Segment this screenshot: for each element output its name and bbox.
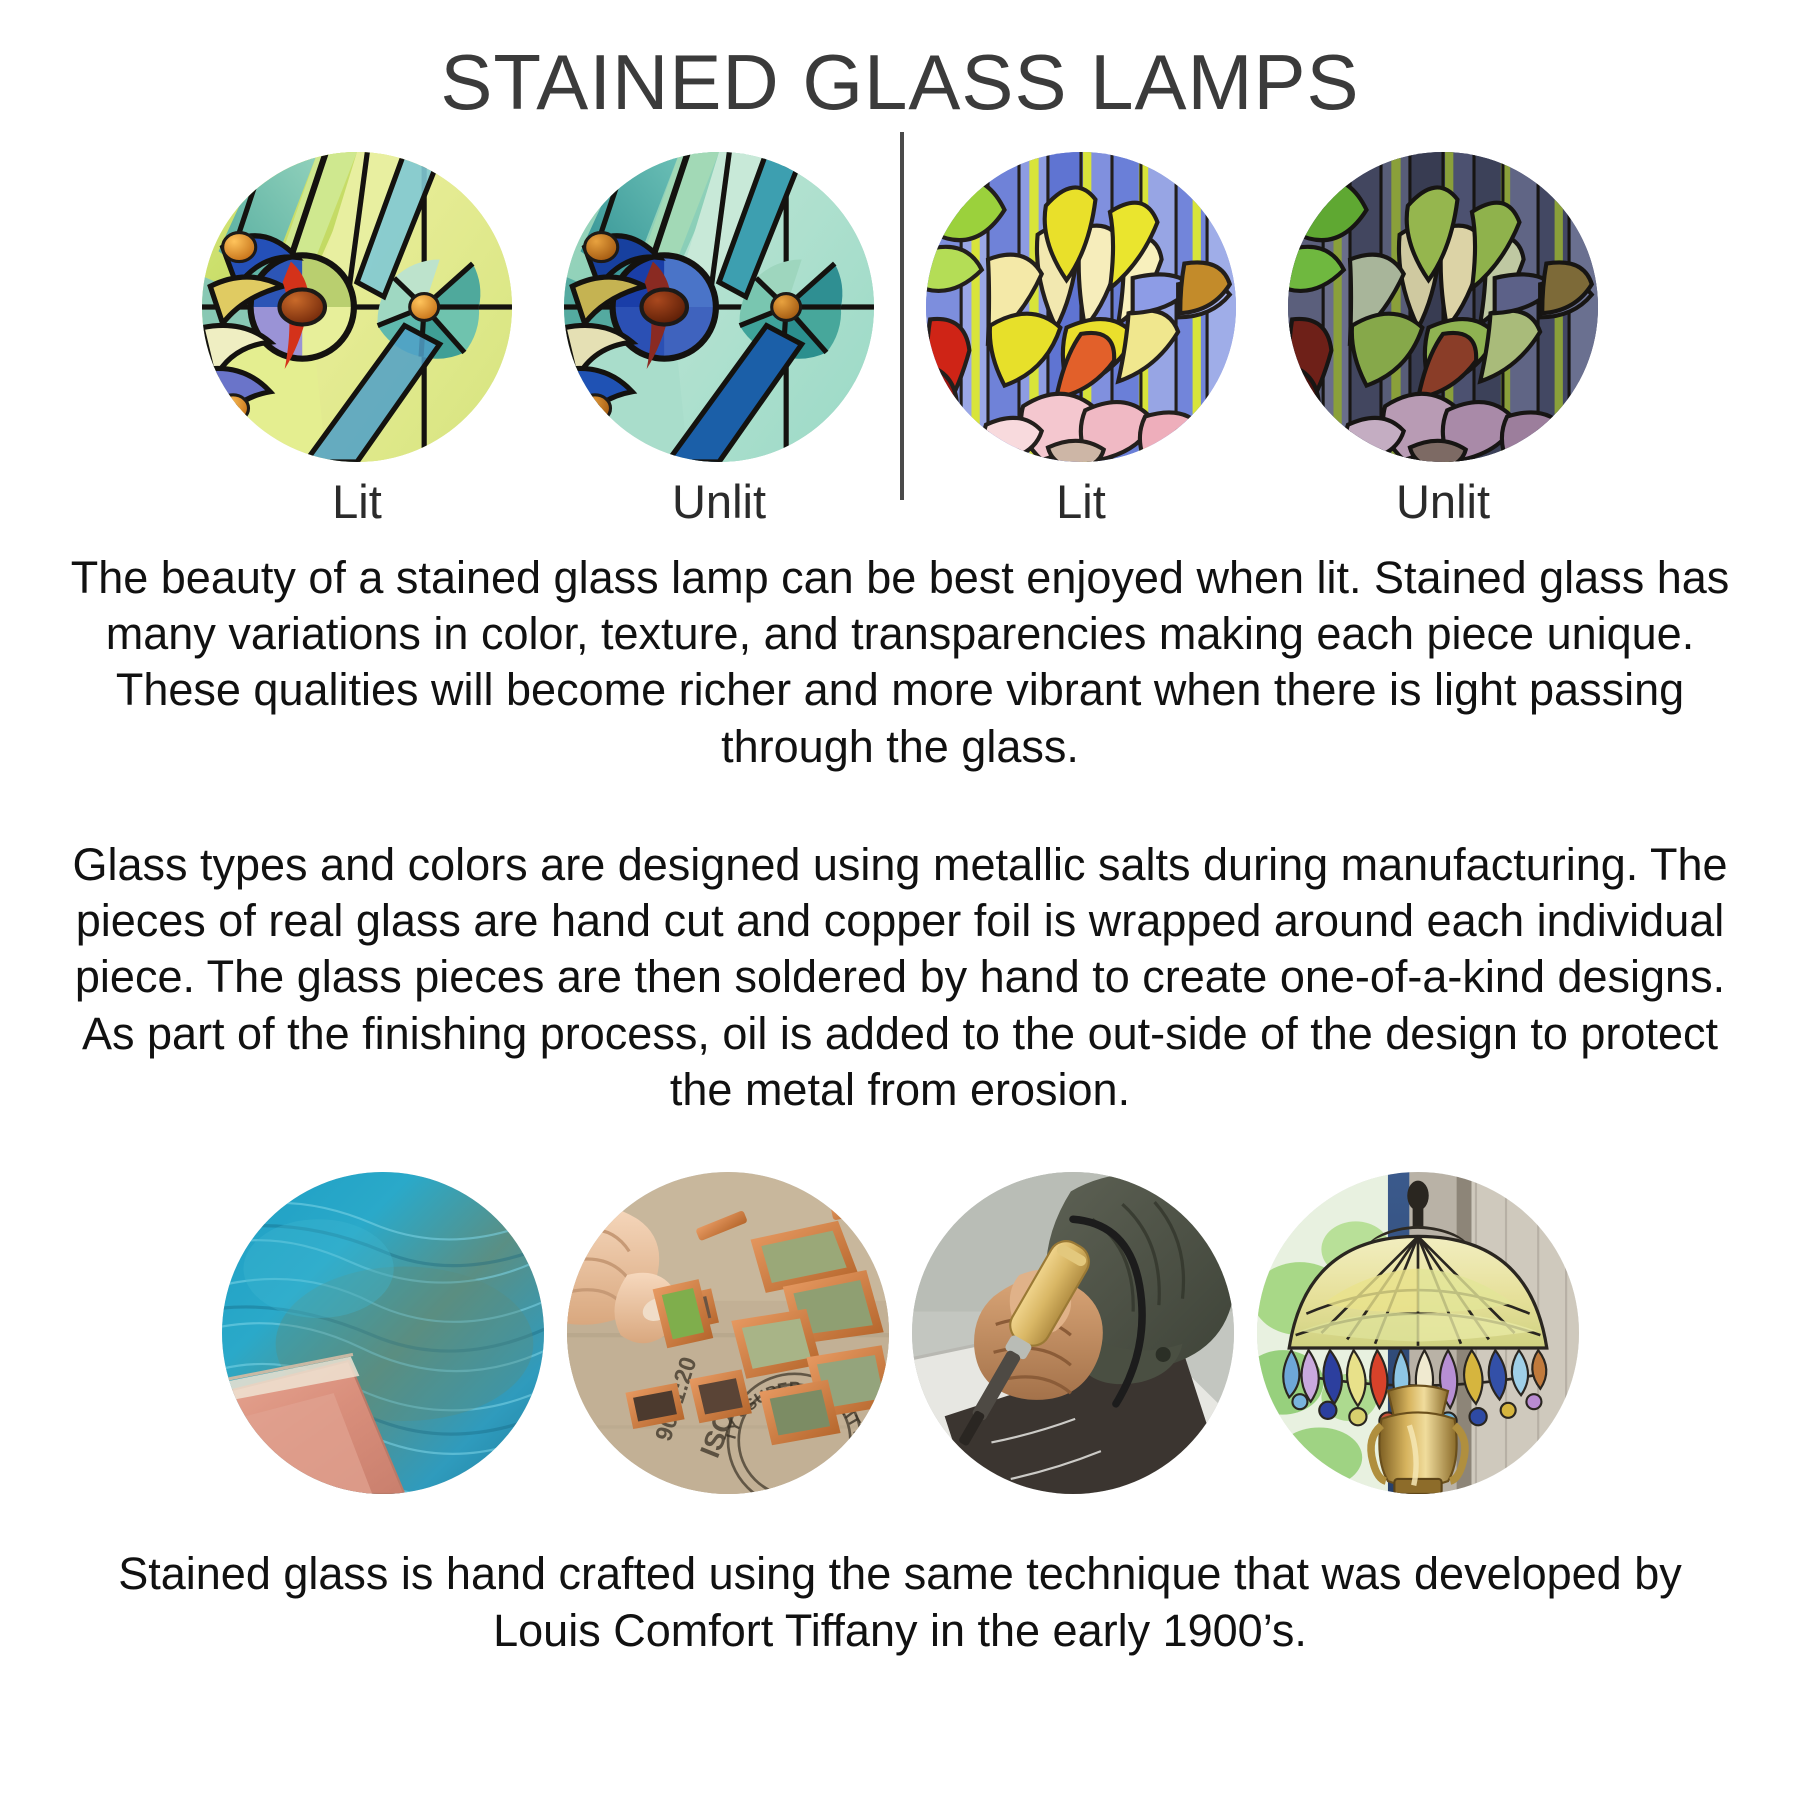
footer-caption: Stained glass is hand crafted using the …: [60, 1546, 1740, 1659]
process-step-copper-foil: 9001:20 ISO TY • SUPER QUALITY • CE: [555, 1172, 900, 1494]
stained-glass-geometric-lit-icon: [202, 152, 512, 462]
comparison-pair-floral: Lit: [900, 152, 1624, 528]
lit-unlit-comparison-row: Lit: [0, 152, 1800, 532]
process-step-soldering: [900, 1172, 1245, 1494]
soldering-iron-icon: [912, 1172, 1234, 1494]
swatch-label: Unlit: [672, 476, 766, 528]
process-step-glass-sheet: [210, 1172, 555, 1494]
stained-glass-floral-lit-icon: [926, 152, 1236, 462]
paragraph-lit-beauty: The beauty of a stained glass lamp can b…: [70, 550, 1730, 775]
process-step-finished-lamp: [1245, 1172, 1590, 1494]
page-title: STAINED GLASS LAMPS: [0, 0, 1800, 124]
tiffany-lamp-icon: [1257, 1172, 1579, 1494]
swatch-cell-floral-lit: Lit: [900, 152, 1262, 528]
swatch-cell-geometric-lit: Lit: [176, 152, 538, 528]
swatch-label: Unlit: [1396, 476, 1490, 528]
process-photo-row: 9001:20 ISO TY • SUPER QUALITY • CE: [0, 1172, 1800, 1494]
glass-sheet-icon: [222, 1172, 544, 1494]
comparison-pair-geometric: Lit: [176, 152, 900, 528]
body-copy: The beauty of a stained glass lamp can b…: [70, 550, 1730, 1118]
infographic-page: STAINED GLASS LAMPS: [0, 0, 1800, 1800]
copper-foil-icon: 9001:20 ISO TY • SUPER QUALITY • CE: [567, 1172, 889, 1494]
swatch-label: Lit: [332, 476, 382, 528]
stained-glass-geometric-unlit-icon: [564, 152, 874, 462]
swatch-cell-geometric-unlit: Unlit: [538, 152, 900, 528]
stained-glass-floral-unlit-icon: [1288, 152, 1598, 462]
paragraph-manufacturing: Glass types and colors are designed usin…: [70, 837, 1730, 1118]
swatch-cell-floral-unlit: Unlit: [1262, 152, 1624, 528]
swatch-label: Lit: [1056, 476, 1106, 528]
comparison-divider: [900, 132, 904, 500]
